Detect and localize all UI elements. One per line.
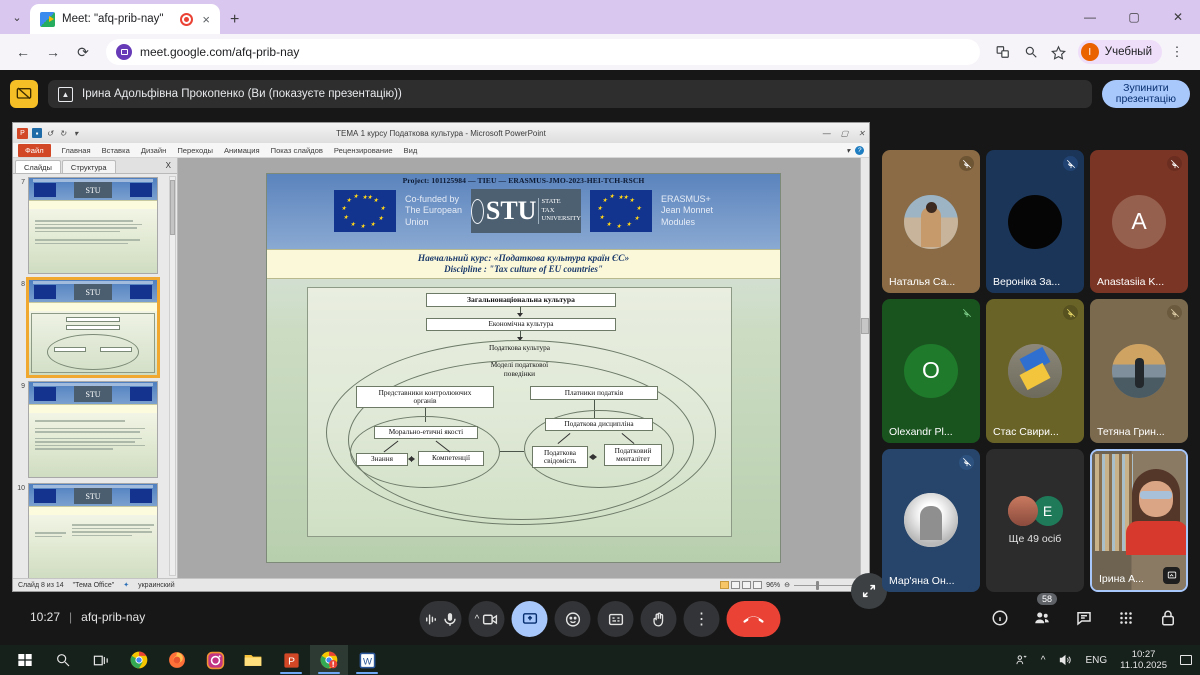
eu-flag-icon-2: ★★★ ★★★ ★★★ ★★★ [590, 190, 652, 232]
zoom-controls: 96% ⊖ [720, 581, 864, 589]
secondary-controls: 58 [986, 604, 1182, 632]
eu-flag-icon: ★★★ ★★★ ★★★ ★★★ [334, 190, 396, 232]
slides-panel: Слайды Структура X 7 STU [13, 158, 178, 578]
participant-tile[interactable]: Вероніка За... [986, 150, 1084, 293]
microphone-off-icon [959, 455, 974, 470]
participant-name: Ірина А... [1099, 573, 1164, 585]
url-text: meet.google.com/afq-prib-nay [140, 45, 299, 59]
slide-thumbnail[interactable]: STU [28, 177, 158, 274]
logo-row: ★★★ ★★★ ★★★ ★★★ Co-funded byThe European… [267, 189, 780, 233]
meeting-status: 10:27 | afq-prib-nay [30, 610, 145, 624]
ppt-close-button[interactable]: ✕ [858, 129, 865, 138]
instagram-icon[interactable] [196, 645, 234, 675]
meeting-time: 10:27 [30, 610, 60, 624]
profile-chip[interactable]: І Учебный [1078, 40, 1162, 64]
forward-icon[interactable]: → [40, 39, 66, 65]
volume-icon[interactable] [1058, 653, 1072, 667]
stu-full-name: STATETAXUNIVERSITY [538, 198, 581, 223]
camera-button[interactable]: ^ [469, 601, 505, 637]
course-title-en: Discipline : "Tax culture of EU countrie… [267, 264, 780, 274]
camera-icon[interactable] [481, 611, 498, 628]
close-window-button[interactable]: ✕ [1156, 0, 1200, 34]
screen: ⌄ Meet: "afq-prib-nay" × + — ▢ ✕ ← → ⟳ m… [0, 0, 1200, 675]
diagram-label-tax-culture: Податкова культура [308, 344, 731, 353]
stop-presenting-button[interactable]: Зупинити презентацію [1102, 80, 1190, 108]
powerpoint-body: Слайды Структура X 7 STU [13, 158, 869, 578]
stu-abbreviation: STU [486, 198, 537, 224]
slide-stage-scrollbar[interactable] [860, 158, 869, 578]
participant-count-badge: 58 [1037, 593, 1057, 605]
bookmark-star-icon[interactable] [1046, 39, 1072, 65]
system-tray: ^ ENG 10:27 11.10.2025 [1014, 649, 1200, 671]
presentation-topbar: ▲ Ірина Адольфівна Прокопенко (Ви (показ… [0, 78, 1200, 110]
present-screen-icon: ▲ [58, 87, 73, 102]
svg-text:W: W [363, 656, 372, 667]
microphone-off-icon [1063, 156, 1078, 171]
slide-thumbnail[interactable]: STU [28, 381, 158, 478]
slide-stage: Project: 101125984 — TIEU — ERASMUS-JMO-… [178, 158, 869, 578]
powerpoint-document-title: ТЕМА 1 курсу Податкова культура - Micros… [13, 129, 869, 138]
list-item[interactable]: 9 STU [15, 381, 175, 478]
participant-name: Мар'яна Он... [889, 575, 958, 587]
presenter-name: Ірина Адольфівна Прокопенко (Ви (показує… [82, 88, 402, 100]
sorter-view-button[interactable] [731, 581, 740, 589]
avatar-initial: A [1131, 208, 1146, 235]
diagram-box-control-authorities: Представники контролюючихорганів [356, 386, 494, 408]
diagram-box-economic-culture: Економічна культура [426, 318, 616, 331]
avatar: І [1081, 43, 1099, 61]
ribbon-tab-review[interactable]: Рецензирование [334, 146, 393, 155]
current-slide: Project: 101125984 — TIEU — ERASMUS-JMO-… [266, 173, 781, 563]
avatar: O [904, 344, 958, 398]
list-item[interactable]: 7 STU [15, 177, 175, 274]
record-icon[interactable] [180, 13, 193, 26]
word-icon[interactable]: W [348, 645, 386, 675]
avatar [1008, 195, 1062, 249]
slide-position-label: Слайд 8 из 14 [18, 582, 64, 589]
self-tile[interactable]: Ірина А... [1090, 449, 1188, 592]
browser-tab-strip: ⌄ Meet: "afq-prib-nay" × + — ▢ ✕ [0, 0, 1200, 34]
microphone-off-icon [959, 305, 974, 320]
presenting-banner: ▲ Ірина Адольфівна Прокопенко (Ви (показ… [48, 80, 1092, 108]
more-avatars: E [1008, 496, 1063, 526]
end-call-button[interactable] [727, 601, 781, 637]
raise-hand-button[interactable] [641, 601, 677, 637]
language-label: украинский [138, 582, 175, 589]
tab-search-chevron-icon[interactable]: ⌄ [4, 3, 30, 31]
participant-name: Вероніка За... [993, 276, 1062, 288]
stu-logo: STU STATETAXUNIVERSITY [471, 189, 581, 233]
slideshow-view-button[interactable] [753, 581, 762, 589]
normal-view-button[interactable] [720, 581, 729, 589]
meet-app: ▲ Ірина Адольфівна Прокопенко (Ви (показ… [0, 70, 1200, 645]
tray-time: 10:27 [1132, 649, 1156, 660]
ribbon-tab-animations[interactable]: Анимация [224, 146, 260, 155]
microphone-off-icon [959, 156, 974, 171]
ribbon-tab-home[interactable]: Главная [62, 146, 91, 155]
erasmus-text: ERASMUS+Jean MonnetModules [661, 194, 713, 229]
avatar [1008, 344, 1062, 398]
meeting-code: afq-prib-nay [81, 610, 145, 624]
stop-present-line2: презентацію [1116, 93, 1176, 105]
close-panel-icon[interactable]: X [166, 161, 171, 170]
slide-number: 9 [15, 381, 25, 390]
help-icon[interactable]: ? [855, 146, 864, 155]
audio-levels-icon [423, 611, 440, 628]
zoom-slider-knob[interactable] [816, 581, 819, 590]
clock[interactable]: 10:27 11.10.2025 [1120, 649, 1167, 671]
slide-number: 10 [15, 483, 25, 492]
chat-button[interactable] [1070, 604, 1098, 632]
slide-number: 8 [15, 279, 25, 288]
avatar [904, 493, 958, 547]
people-tray-icon[interactable] [1014, 653, 1028, 667]
avatar: A [1112, 195, 1166, 249]
present-now-button[interactable] [512, 601, 548, 637]
microphone-off-icon [1167, 156, 1182, 171]
stop-present-line1: Зупинити [1123, 82, 1168, 94]
ribbon-tab-transitions[interactable]: Переходы [177, 146, 213, 155]
theme-label: "Тема Office" [73, 582, 115, 589]
emoji-reaction-button[interactable] [555, 601, 591, 637]
ribbon-collapse-icon[interactable]: ▾ [846, 146, 850, 155]
ribbon-tab-slideshow[interactable]: Показ слайдов [271, 146, 323, 155]
tab-slides[interactable]: Слайды [15, 160, 61, 173]
browser-tab[interactable]: Meet: "afq-prib-nay" × [30, 4, 220, 34]
avatar [1112, 344, 1166, 398]
participant-tile[interactable]: A Anastasiia K... [1090, 150, 1188, 293]
main-controls: ^ ⋮ [420, 601, 781, 637]
minimize-button[interactable]: — [1068, 0, 1112, 34]
participant-tile[interactable]: Мар'яна Он... [882, 449, 980, 592]
maximize-button[interactable]: ▢ [1112, 0, 1156, 34]
slide-thumbnail[interactable]: STU [28, 483, 158, 578]
powerpoint-title-bar: P ▪↺↻▾ ТЕМА 1 курсу Податкова культура -… [13, 123, 869, 143]
participant-name: Тетяна Грин... [1097, 426, 1166, 438]
spellcheck-icon[interactable]: ✦ [123, 581, 129, 589]
project-line: Project: 101125984 — TIEU — ERASMUS-JMO-… [267, 176, 780, 185]
ribbon-tab-view[interactable]: Вид [404, 146, 418, 155]
window-controls: — ▢ ✕ [1068, 0, 1200, 34]
new-tab-button[interactable]: + [220, 11, 249, 29]
zoom-slider[interactable] [794, 585, 852, 586]
ribbon-help-area: ▾ ? [846, 146, 864, 155]
back-icon[interactable]: ← [10, 39, 36, 65]
avatar [1008, 496, 1038, 526]
diagram-box-tax-awareness: Податковасвідомість [532, 446, 588, 468]
windows-taskbar: P W ^ ENG 10:27 11.10.2025 [0, 645, 1200, 675]
reading-view-button[interactable] [742, 581, 751, 589]
diagram-box-competences: Компетенції [418, 451, 484, 466]
activities-button[interactable] [1112, 604, 1140, 632]
slide-thumbnail-list[interactable]: 7 STU [13, 174, 177, 578]
diagram-box-moral-qualities: Морально-етичні якості [374, 426, 478, 439]
microphone-off-icon [1063, 305, 1078, 320]
thumbnails-scrollbar[interactable] [169, 176, 176, 576]
chrome-icon[interactable] [120, 645, 158, 675]
toolbar-right: І Учебный ⋮ [990, 39, 1190, 65]
diagram-box-tax-discipline: Податкова дисципліна [545, 418, 653, 431]
diagram-label-models: Моделі податковоїповедінки [308, 361, 731, 378]
powerpoint-icon[interactable]: P [272, 645, 310, 675]
view-buttons[interactable] [720, 581, 762, 589]
search-icon[interactable] [44, 645, 82, 675]
participant-tile[interactable]: Стас Свири... [986, 299, 1084, 442]
microphone-off-icon [1167, 305, 1182, 320]
diagram-box-taxpayers: Платники податків [530, 386, 658, 400]
start-button[interactable] [6, 645, 44, 675]
more-participants-label: Ще 49 осіб [1009, 533, 1062, 545]
participant-name: Стас Свири... [993, 426, 1062, 438]
participant-name: Наталья Са... [889, 276, 958, 288]
host-controls-button[interactable] [1154, 604, 1182, 632]
site-info-icon[interactable] [116, 44, 132, 60]
tab-title: Meet: "afq-prib-nay" [62, 13, 173, 25]
slide-diagram: Загальнонаціональна культура Економічна … [307, 287, 732, 537]
address-bar[interactable]: meet.google.com/afq-prib-nay [106, 39, 980, 65]
stu-seal-icon [471, 199, 484, 224]
tray-date: 11.10.2025 [1120, 660, 1167, 671]
participant-tile[interactable]: O Olexandr Pl... [882, 299, 980, 442]
chevron-up-icon[interactable]: ^ [475, 614, 480, 625]
captions-button[interactable] [598, 601, 634, 637]
people-button[interactable]: 58 [1028, 604, 1056, 632]
meeting-info-button[interactable] [986, 604, 1014, 632]
eu-funding-text: Co-funded byThe EuropeanUnion [405, 194, 462, 229]
list-item[interactable]: 10 STU [15, 483, 175, 578]
more-participants-tile[interactable]: E Ще 49 осіб [986, 449, 1084, 592]
slide-course-banner: Навчальний курс: «Податкова культура кра… [267, 249, 780, 279]
meet-icon [40, 12, 55, 27]
presenting-indicator-icon [10, 80, 38, 108]
powerpoint-window: P ▪↺↻▾ ТЕМА 1 курсу Податкова культура -… [12, 122, 870, 592]
slide-header: Project: 101125984 — TIEU — ERASMUS-JMO-… [267, 174, 780, 249]
more-options-button[interactable]: ⋮ [684, 601, 720, 637]
svg-text:P: P [288, 656, 295, 667]
ribbon-tab-insert[interactable]: Вставка [102, 146, 130, 155]
browser-menu-icon[interactable]: ⋮ [1164, 39, 1190, 65]
participant-tiles: Наталья Са... Вероніка За... A Anastasii… [882, 150, 1188, 592]
diagram-box-knowledge: Знання [356, 453, 408, 466]
participant-name: Olexandr Pl... [889, 426, 958, 438]
self-view-options-icon[interactable] [1163, 567, 1180, 584]
diagram-box-national-culture: Загальнонаціональна культура [426, 293, 616, 307]
close-icon[interactable]: × [200, 12, 212, 27]
avatar-initial: O [922, 357, 940, 384]
translate-icon[interactable] [990, 39, 1016, 65]
reload-icon[interactable]: ⟳ [70, 39, 96, 65]
microphone-button[interactable] [420, 601, 462, 637]
browser-toolbar: ← → ⟳ meet.google.com/afq-prib-nay [0, 34, 1200, 70]
chrome-active-icon[interactable] [310, 645, 348, 675]
powerpoint-status-bar: Слайд 8 из 14 "Тема Office" ✦ украинский… [13, 578, 869, 591]
microphone-icon[interactable] [442, 611, 459, 628]
notification-center-icon[interactable] [1180, 655, 1192, 665]
participant-name: Anastasiia K... [1097, 276, 1166, 288]
ppt-restore-button[interactable]: ▢ [841, 129, 849, 138]
diagram-box-tax-mentality: Податковийменталітет [604, 444, 662, 466]
avatar [904, 195, 958, 249]
profile-label: Учебный [1105, 46, 1152, 58]
slides-panel-tabs: Слайды Структура X [13, 158, 177, 174]
zoom-level-label: 96% [766, 582, 780, 589]
ppt-minimize-button[interactable]: — [823, 129, 831, 138]
slide-thumbnail-selected[interactable]: STU [28, 279, 158, 376]
participant-tile[interactable]: Тетяна Грин... [1090, 299, 1188, 442]
meet-control-bar: 10:27 | afq-prib-nay ^ [0, 592, 1200, 645]
powerpoint-window-controls: —▢✕ [823, 129, 865, 138]
show-hidden-icons-chevron[interactable]: ^ [1041, 655, 1046, 666]
zoom-icon[interactable] [1018, 39, 1044, 65]
participant-tile[interactable]: Наталья Са... [882, 150, 980, 293]
tab-outline[interactable]: Структура [62, 160, 116, 173]
ribbon-tab-design[interactable]: Дизайн [141, 146, 167, 155]
ribbon-tab-file[interactable]: Файл [18, 144, 51, 157]
powerpoint-ribbon: Файл Главная Вставка Дизайн Переходы Ани… [13, 143, 869, 158]
language-indicator[interactable]: ENG [1085, 655, 1107, 666]
zoom-out-button[interactable]: ⊖ [784, 581, 790, 589]
firefox-icon[interactable] [158, 645, 196, 675]
file-explorer-icon[interactable] [234, 645, 272, 675]
course-title-ua: Навчальний курс: «Податкова культура кра… [267, 254, 780, 264]
scrollbar-thumb[interactable] [170, 180, 175, 235]
task-view-icon[interactable] [82, 645, 120, 675]
scrollbar-thumb[interactable] [861, 318, 869, 334]
list-item[interactable]: 8 STU [15, 279, 175, 376]
slide-number: 7 [15, 177, 25, 186]
